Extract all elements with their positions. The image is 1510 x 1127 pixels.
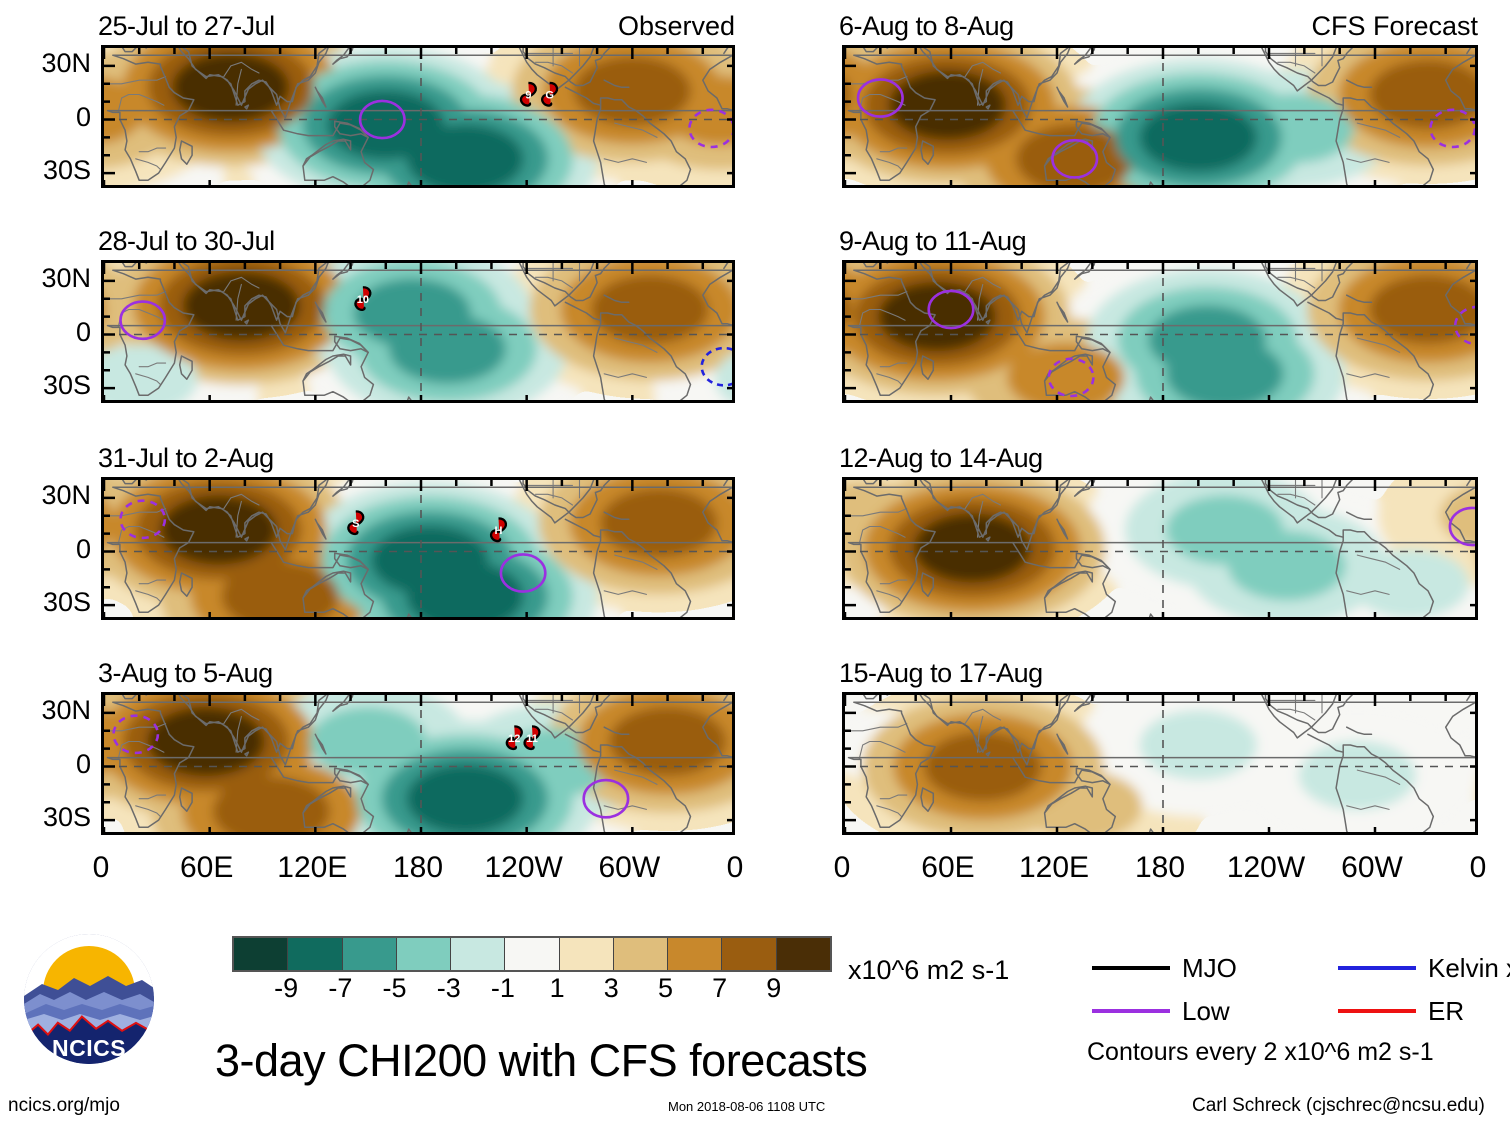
colorbar-tick-3: -3 [419, 975, 479, 1002]
colorbar-swatch-0 [234, 938, 288, 970]
y-axis-label-obs-4-1: 0 [0, 751, 91, 778]
colorbar-swatch-2 [343, 938, 397, 970]
x-axis-label-forecast-1: 60E [893, 853, 1003, 883]
panel-title-fcst-3: 12-Aug to 14-Aug [839, 445, 1043, 472]
legend-item-mjo: MJO [1092, 955, 1237, 981]
y-axis-label-obs-1-1: 0 [0, 104, 91, 131]
map-panel-obs-4: 12 11 [101, 692, 735, 835]
svg-text:H: H [495, 525, 503, 537]
colorbar-swatch-3 [397, 938, 451, 970]
colorbar-swatch-1 [288, 938, 342, 970]
legend-label: ER [1428, 998, 1464, 1024]
map-panel-obs-2: 10 [101, 260, 735, 403]
x-axis-label-observed-2: 120E [257, 853, 367, 883]
svg-text:12: 12 [508, 733, 520, 745]
legend-line-kelvin-x2-icon [1338, 966, 1416, 970]
map-panel-obs-1: 9 G [101, 45, 735, 188]
x-axis-label-observed-0: 0 [46, 853, 156, 883]
x-axis-label-observed-4: 120W [469, 853, 579, 883]
x-axis-label-forecast-3: 180 [1105, 853, 1215, 883]
main-title: 3-day CHI200 with CFS forecasts [215, 1038, 867, 1083]
legend-label: Low [1182, 998, 1230, 1024]
y-axis-label-obs-3-1: 0 [0, 536, 91, 563]
colorbar-tick-0: -9 [256, 975, 316, 1002]
panel-title-obs-4: 3-Aug to 5-Aug [98, 660, 273, 687]
ncics-logo-text: NCICS [24, 1035, 154, 1062]
y-axis-label-obs-2-1: 0 [0, 319, 91, 346]
colorbar-tick-8: 7 [690, 975, 750, 1002]
x-axis-label-forecast-6: 0 [1423, 853, 1510, 883]
legend-line-mjo-icon [1092, 966, 1170, 970]
footer-center: Mon 2018-08-06 1108 UTC [668, 1100, 825, 1113]
x-axis-label-observed-3: 180 [363, 853, 473, 883]
colorbar-tick-4: -1 [473, 975, 533, 1002]
y-axis-label-obs-4-0: 30N [0, 697, 91, 724]
legend-label: MJO [1182, 955, 1237, 981]
colorbar [232, 936, 832, 972]
legend-line-low-icon [1092, 1009, 1170, 1013]
colorbar-swatch-7 [614, 938, 668, 970]
colorbar-swatch-4 [451, 938, 505, 970]
colorbar-unit-label: x10^6 m2 s-1 [848, 957, 1009, 984]
panel-title-fcst-4: 15-Aug to 17-Aug [839, 660, 1043, 687]
colorbar-swatch-6 [560, 938, 614, 970]
colorbar-swatch-8 [668, 938, 722, 970]
colorbar-tick-7: 5 [635, 975, 695, 1002]
map-panel-obs-3: S H [101, 477, 735, 620]
contour-note: Contours every 2 x10^6 m2 s-1 [1087, 1040, 1434, 1065]
svg-text:9: 9 [525, 90, 531, 102]
map-panel-fcst-1 [842, 45, 1478, 188]
colorbar-swatch-10 [777, 938, 830, 970]
y-axis-label-obs-1-0: 30N [0, 50, 91, 77]
y-axis-label-obs-2-2: 30S [0, 372, 91, 399]
colorbar-tick-2: -5 [365, 975, 425, 1002]
panel-corner-label-fcst-1: CFS Forecast [0, 13, 1478, 40]
legend-label: Kelvin x2 [1428, 955, 1510, 981]
legend-item-low: Low [1092, 998, 1230, 1024]
colorbar-tick-9: 9 [744, 975, 804, 1002]
panel-title-obs-3: 31-Jul to 2-Aug [98, 445, 274, 472]
y-axis-label-obs-2-0: 30N [0, 265, 91, 292]
x-axis-label-observed-5: 60W [574, 853, 684, 883]
panel-title-obs-2: 28-Jul to 30-Jul [98, 228, 275, 255]
colorbar-tick-1: -7 [310, 975, 370, 1002]
footer-right: Carl Schreck (cjschrec@ncsu.edu) [1192, 1096, 1485, 1115]
colorbar-tick-5: 1 [527, 975, 587, 1002]
y-axis-label-obs-3-2: 30S [0, 589, 91, 616]
x-axis-label-forecast-2: 120E [999, 853, 1109, 883]
map-panel-fcst-4 [842, 692, 1478, 835]
legend-line-er-icon [1338, 1009, 1416, 1013]
y-axis-label-obs-1-2: 30S [0, 157, 91, 184]
x-axis-label-observed-1: 60E [152, 853, 262, 883]
x-axis-label-forecast-5: 60W [1317, 853, 1427, 883]
x-axis-label-forecast-0: 0 [787, 853, 897, 883]
svg-text:10: 10 [357, 294, 369, 306]
colorbar-swatch-9 [722, 938, 776, 970]
panel-title-fcst-2: 9-Aug to 11-Aug [839, 228, 1026, 255]
y-axis-label-obs-4-2: 30S [0, 804, 91, 831]
colorbar-tick-6: 3 [581, 975, 641, 1002]
x-axis-label-forecast-4: 120W [1211, 853, 1321, 883]
legend-item-kelvin-x2: Kelvin x2 [1338, 955, 1510, 981]
map-panel-fcst-3 [842, 477, 1478, 620]
svg-text:S: S [352, 518, 359, 530]
legend-item-er: ER [1338, 998, 1464, 1024]
footer-left[interactable]: ncics.org/mjo [8, 1096, 120, 1115]
y-axis-label-obs-3-0: 30N [0, 482, 91, 509]
colorbar-swatch-5 [505, 938, 559, 970]
svg-text:G: G [545, 90, 554, 102]
map-panel-fcst-2 [842, 260, 1478, 403]
x-axis-label-observed-6: 0 [680, 853, 790, 883]
svg-text:11: 11 [526, 733, 538, 745]
